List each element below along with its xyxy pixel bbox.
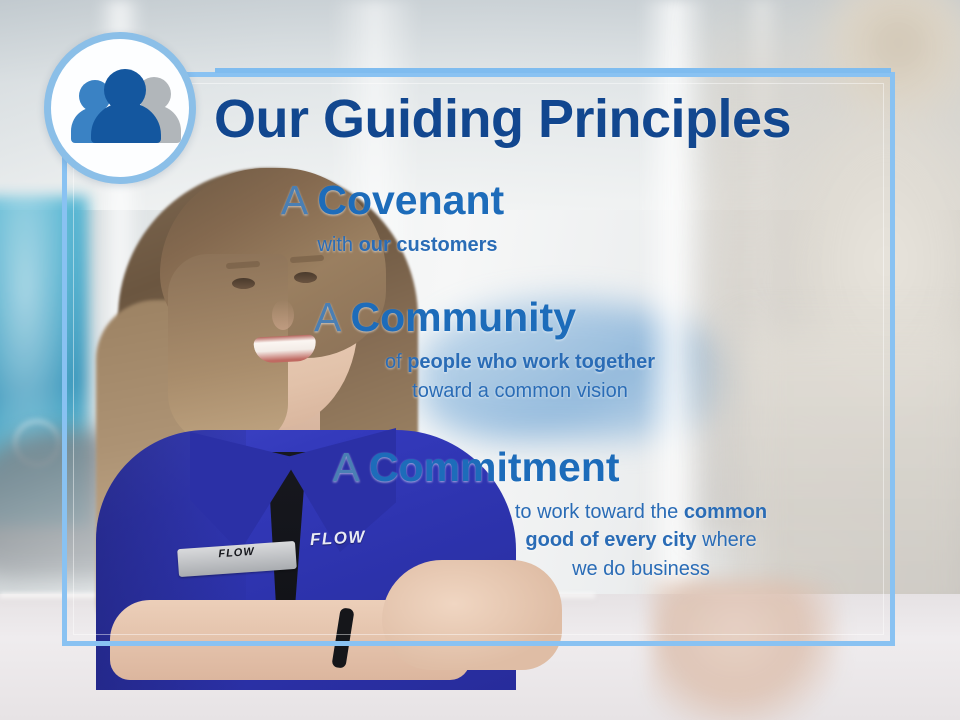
blurred-hand-right (650, 580, 840, 720)
subtext-line: good of every city where (330, 526, 952, 554)
principles-list: A Covenant with our customers A Communit… (0, 178, 960, 583)
subtext-line: with our customers (30, 231, 785, 259)
principle-subtext: to work toward the commongood of every c… (0, 498, 952, 583)
page-title: Our Guiding Principles (214, 92, 874, 146)
subtext-emphasis: good of every city (525, 529, 696, 551)
subtext-run: where (697, 529, 757, 551)
principle-word: Commitment (369, 444, 620, 490)
principle-title: A Community (0, 295, 890, 341)
principle-community: A Community of people who work togethert… (0, 295, 960, 405)
subtext-run: toward a common vision (412, 380, 628, 402)
principle-covenant: A Covenant with our customers (0, 178, 960, 259)
principle-title: A Covenant (0, 178, 785, 224)
subtext-run: of (385, 351, 407, 373)
subtext-emphasis: people who work together (407, 351, 655, 373)
promo-graphic: FLOW FLOW Our Guiding Principles A (0, 0, 960, 720)
principle-article: A (281, 177, 306, 223)
three-people-icon (71, 69, 183, 143)
subtext-line: we do business (330, 555, 952, 583)
people-badge (44, 32, 196, 184)
principle-word: Community (351, 294, 577, 340)
subtext-emphasis: our customers (359, 234, 498, 256)
principle-article: A (332, 444, 357, 490)
principle-title: A Commitment (0, 445, 952, 491)
principle-word: Covenant (317, 177, 504, 223)
principle-commitment: A Commitment to work toward the commongo… (0, 445, 960, 583)
subtext-line: to work toward the common (330, 498, 952, 526)
subtext-line: toward a common vision (150, 377, 890, 405)
headline-rule (215, 68, 891, 73)
subtext-run: with (317, 234, 358, 256)
principle-subtext: of people who work togethertoward a comm… (0, 348, 890, 405)
subtext-run: we do business (572, 558, 710, 580)
principle-article: A (314, 294, 339, 340)
subtext-line: of people who work together (150, 348, 890, 376)
subtext-emphasis: common (684, 501, 767, 523)
principle-subtext: with our customers (0, 231, 785, 259)
subtext-run: to work toward the (515, 501, 684, 523)
